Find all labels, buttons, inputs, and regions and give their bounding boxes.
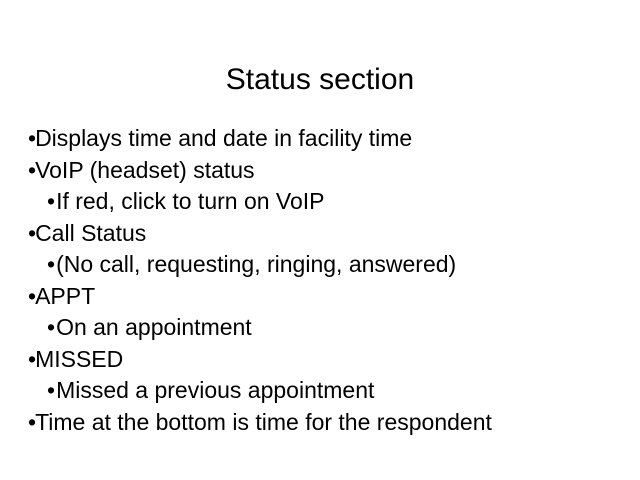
bullet-icon: • — [28, 157, 35, 183]
list-item-label: On an appointment — [56, 314, 252, 340]
list-item: •If red, click to turn on VoIP — [28, 186, 628, 218]
bullet-list: •Displays time and date in facility time… — [28, 123, 628, 438]
list-item-label: APPT — [35, 283, 95, 309]
list-item-label: (No call, requesting, ringing, answered) — [56, 251, 456, 277]
list-item-label: MISSED — [35, 346, 123, 372]
bullet-icon: • — [47, 251, 56, 277]
list-item-label: Displays time and date in facility time — [35, 125, 412, 151]
list-item-label: If red, click to turn on VoIP — [56, 188, 324, 214]
bullet-icon: • — [28, 125, 35, 151]
bullet-icon: • — [28, 283, 35, 309]
list-item: •APPT — [28, 281, 628, 313]
list-item: •Displays time and date in facility time — [28, 123, 628, 155]
bullet-icon: • — [47, 188, 56, 214]
list-item-label: VoIP (headset) status — [35, 157, 255, 183]
bullet-icon: • — [28, 220, 35, 246]
list-item: •Missed a previous appointment — [28, 375, 628, 407]
list-item-label: Call Status — [35, 220, 146, 246]
page-title: Status section — [0, 62, 640, 98]
bullet-icon: • — [28, 409, 35, 435]
bullet-icon: • — [47, 377, 56, 403]
list-item: •(No call, requesting, ringing, answered… — [28, 249, 628, 281]
list-item: •VoIP (headset) status — [28, 155, 628, 187]
list-item-label: Time at the bottom is time for the respo… — [35, 409, 492, 435]
bullet-icon: • — [47, 314, 56, 340]
bullet-icon: • — [28, 346, 35, 372]
list-item: •On an appointment — [28, 312, 628, 344]
slide: Status section •Displays time and date i… — [0, 0, 640, 480]
list-item: •MISSED — [28, 344, 628, 376]
list-item: •Time at the bottom is time for the resp… — [28, 407, 628, 439]
list-item-label: Missed a previous appointment — [56, 377, 374, 403]
list-item: •Call Status — [28, 218, 628, 250]
